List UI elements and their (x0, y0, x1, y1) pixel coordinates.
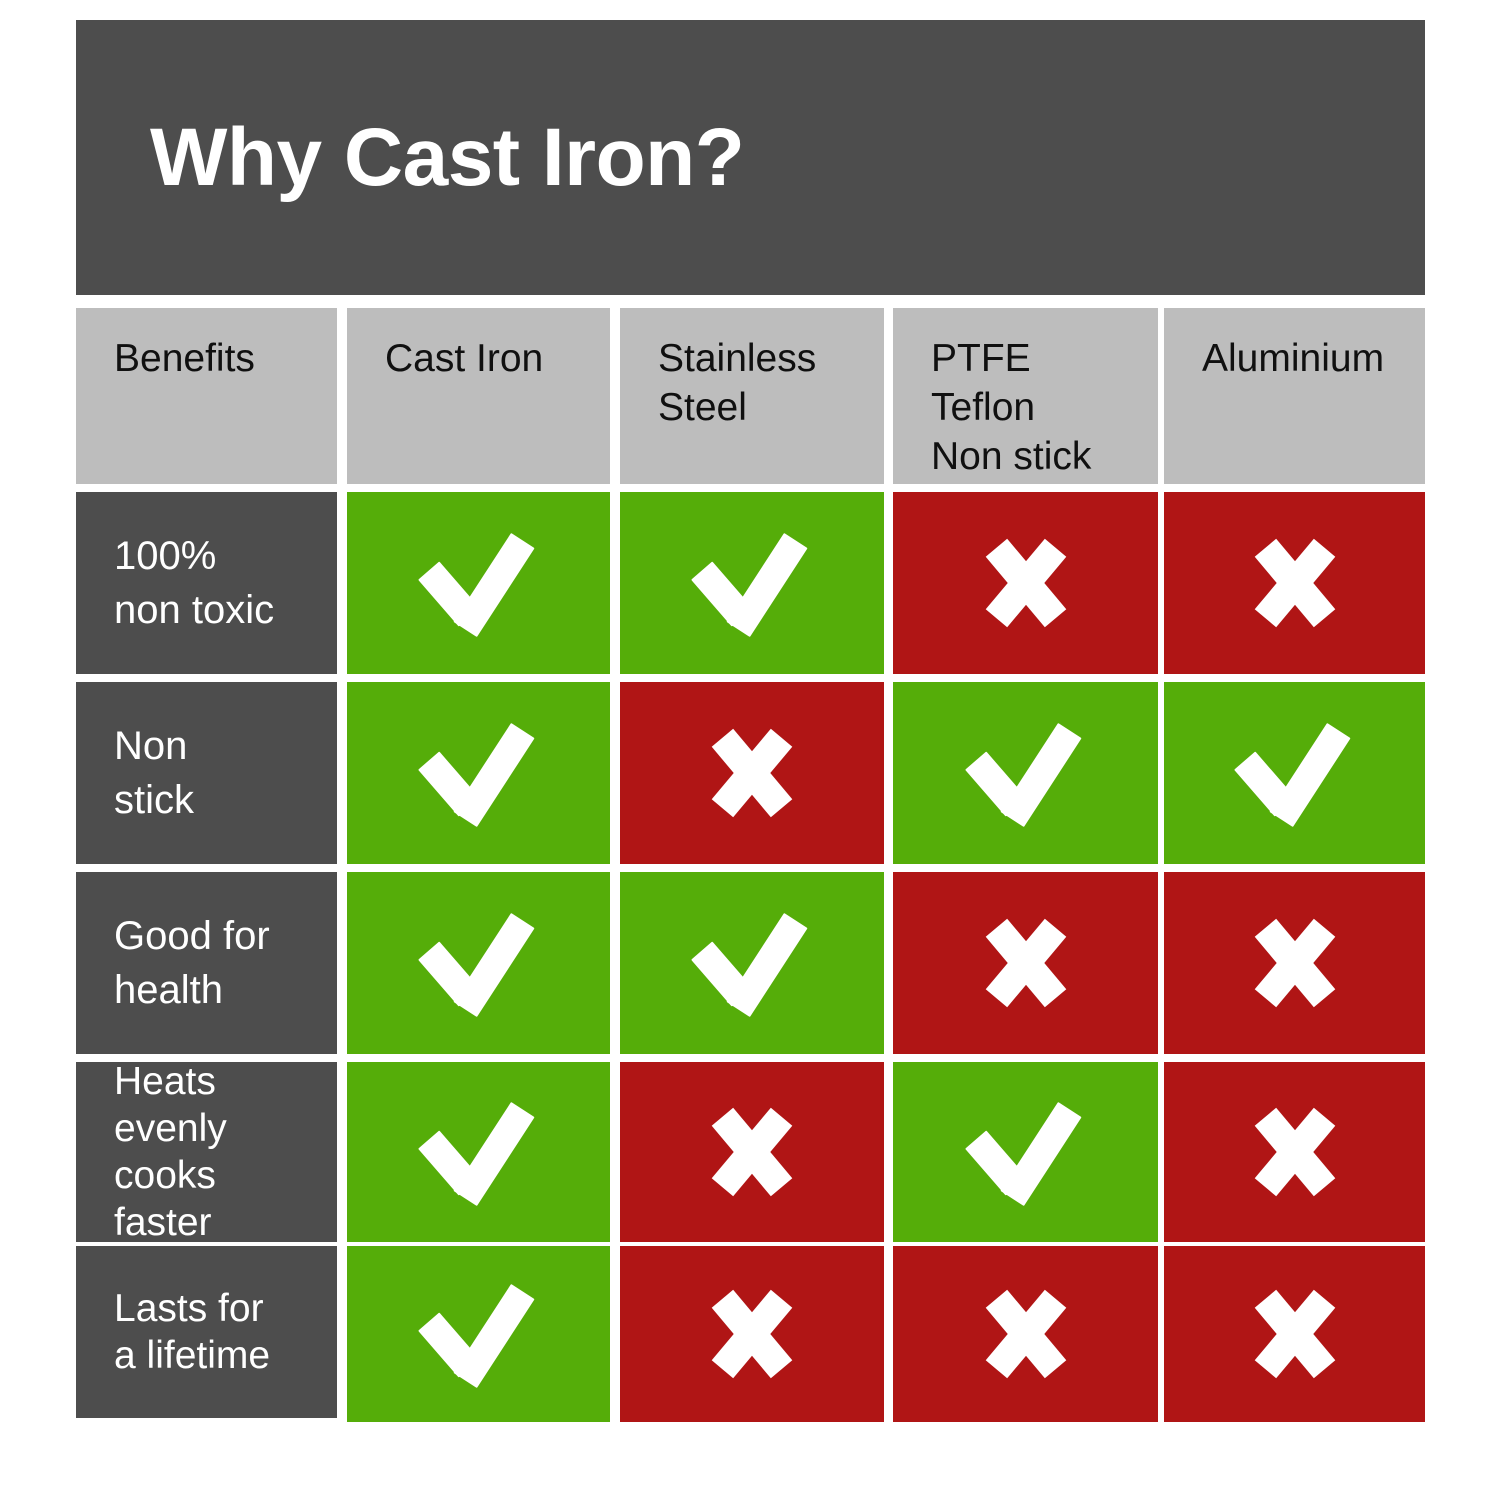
table-cell-heats-evenly-aluminium (1164, 1062, 1425, 1242)
table-cell-non-toxic-cast-iron (347, 492, 610, 674)
check-icon (423, 731, 535, 815)
table-cell-non-toxic-ptfe-teflon (893, 492, 1158, 674)
table-header-cast-iron: Cast Iron (347, 308, 610, 484)
table-row-label-good-for-health: Good for health (76, 872, 337, 1054)
cross-icon (709, 1109, 795, 1195)
table-cell-heats-evenly-stainless-steel (620, 1062, 884, 1242)
table-cell-non-stick-aluminium (1164, 682, 1425, 864)
check-icon (423, 541, 535, 625)
cross-icon (983, 1291, 1069, 1377)
check-icon (1239, 731, 1351, 815)
table-cell-non-toxic-stainless-steel (620, 492, 884, 674)
table-cell-good-for-health-ptfe-teflon (893, 872, 1158, 1054)
page-title: Why Cast Iron? (150, 117, 744, 199)
table-cell-good-for-health-aluminium (1164, 872, 1425, 1054)
cross-icon (1252, 920, 1338, 1006)
table-header-ptfe-teflon: PTFE Teflon Non stick (893, 308, 1158, 484)
check-icon (423, 1110, 535, 1194)
cross-icon (1252, 540, 1338, 626)
comparison-infographic: Why Cast Iron? Benefits Cast Iron Stainl… (0, 0, 1500, 1500)
table-cell-heats-evenly-cast-iron (347, 1062, 610, 1242)
table-cell-good-for-health-cast-iron (347, 872, 610, 1054)
check-icon (970, 731, 1082, 815)
table-header-benefits: Benefits (76, 308, 337, 484)
table-row-label-lasts-lifetime: Lasts for a lifetime (76, 1246, 337, 1418)
cross-icon (983, 540, 1069, 626)
table-cell-good-for-health-stainless-steel (620, 872, 884, 1054)
table-cell-non-stick-ptfe-teflon (893, 682, 1158, 864)
table-cell-non-stick-stainless-steel (620, 682, 884, 864)
check-icon (696, 921, 808, 1005)
title-banner: Why Cast Iron? (76, 20, 1425, 295)
table-header-aluminium: Aluminium (1164, 308, 1425, 484)
table-row-label-non-stick: Non stick (76, 682, 337, 864)
check-icon (423, 1292, 535, 1376)
cross-icon (1252, 1109, 1338, 1195)
table-cell-lasts-lifetime-aluminium (1164, 1246, 1425, 1422)
table-cell-non-stick-cast-iron (347, 682, 610, 864)
table-row-label-non-toxic: 100% non toxic (76, 492, 337, 674)
cross-icon (1252, 1291, 1338, 1377)
check-icon (696, 541, 808, 625)
cross-icon (983, 920, 1069, 1006)
table-cell-lasts-lifetime-cast-iron (347, 1246, 610, 1422)
check-icon (423, 921, 535, 1005)
check-icon (970, 1110, 1082, 1194)
table-header-stainless-steel: Stainless Steel (620, 308, 884, 484)
cross-icon (709, 730, 795, 816)
comparison-table: Benefits Cast Iron Stainless Steel PTFE … (76, 308, 1425, 1422)
table-cell-heats-evenly-ptfe-teflon (893, 1062, 1158, 1242)
table-cell-lasts-lifetime-stainless-steel (620, 1246, 884, 1422)
cross-icon (709, 1291, 795, 1377)
table-row-label-heats-evenly: Heats evenly cooks faster (76, 1062, 337, 1242)
table-cell-non-toxic-aluminium (1164, 492, 1425, 674)
table-cell-lasts-lifetime-ptfe-teflon (893, 1246, 1158, 1422)
